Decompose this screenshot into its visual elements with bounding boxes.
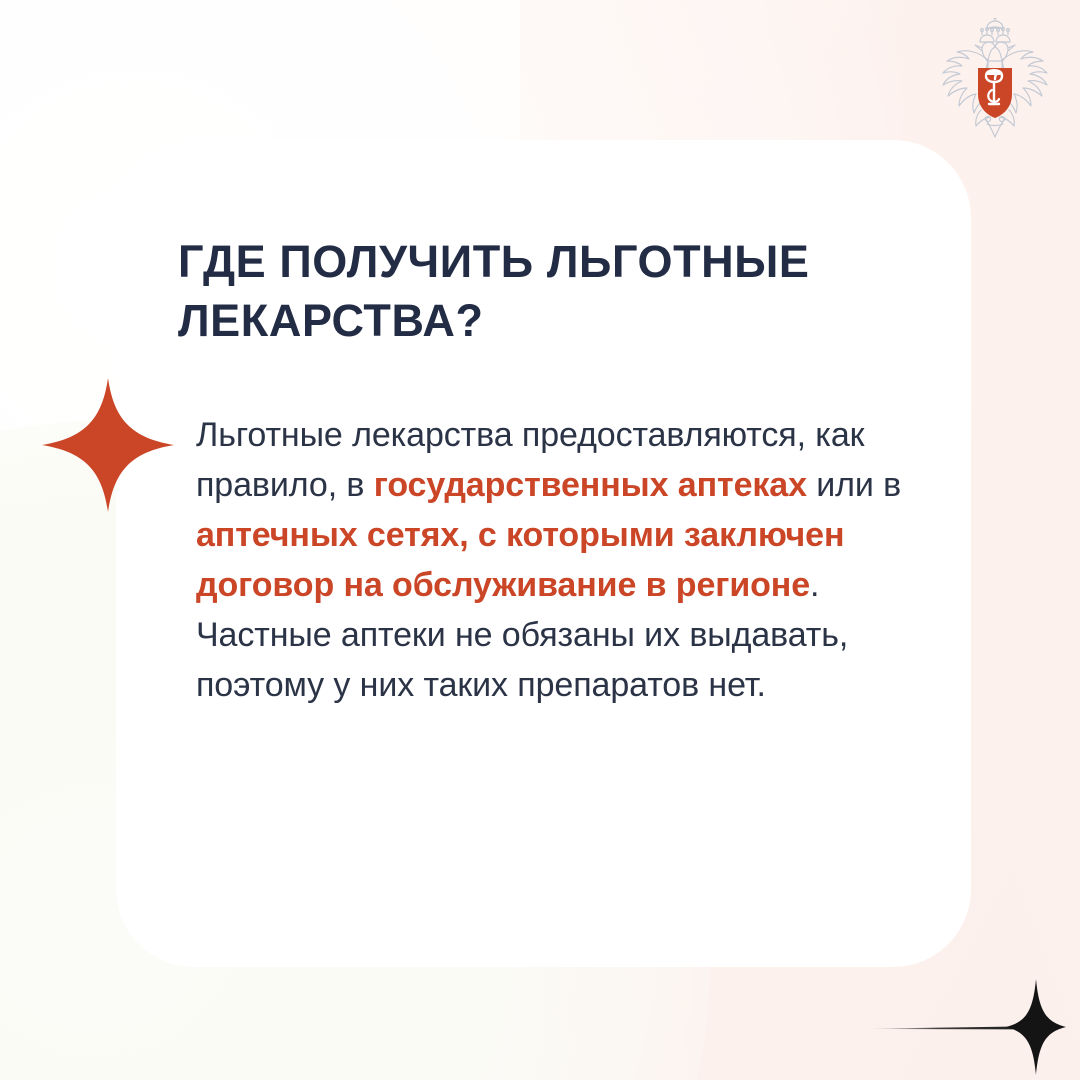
roszdravnadzor-emblem-icon: [933, 18, 1057, 142]
body-segment-plain-2: или в: [807, 466, 901, 504]
body-paragraph: Льготные лекарства предоставляются, как …: [196, 410, 956, 710]
body-segment-highlight-2: аптечных сетях, с которыми заключен дого…: [196, 516, 844, 604]
poster-canvas: ГДЕ ПОЛУЧИТЬ ЛЬГОТНЫЕ ЛЕКАРСТВА? Льготны…: [0, 0, 1080, 1080]
page-title: ГДЕ ПОЛУЧИТЬ ЛЬГОТНЫЕ ЛЕКАРСТВА?: [178, 232, 818, 350]
body-segment-highlight-1: государственных аптеках: [374, 466, 807, 504]
dark-sparkle-icon: [866, 975, 1066, 1079]
orange-sparkle-icon: [42, 378, 174, 512]
card-text-block: ГДЕ ПОЛУЧИТЬ ЛЬГОТНЫЕ ЛЕКАРСТВА? Льготны…: [178, 232, 968, 350]
